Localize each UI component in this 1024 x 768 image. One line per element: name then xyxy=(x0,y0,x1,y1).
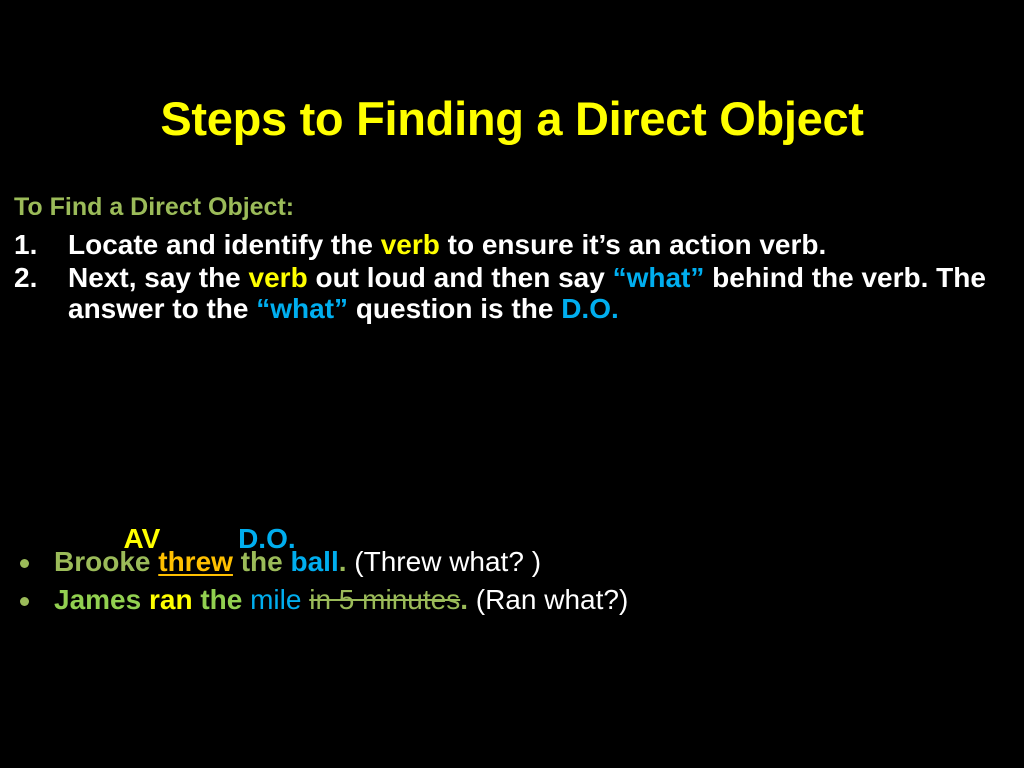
text-segment: the xyxy=(233,546,291,577)
step-number: 1. xyxy=(14,229,54,260)
text-segment: “what” xyxy=(256,293,348,324)
text-segment: . xyxy=(339,546,347,577)
example-item: Brooke threw the ball. (Threw what? ) xyxy=(14,546,1014,578)
text-segment: James xyxy=(54,584,149,615)
examples-list: Brooke threw the ball. (Threw what? )Jam… xyxy=(14,546,1014,621)
text-segment: (Threw what? ) xyxy=(347,546,542,577)
text-segment: ball xyxy=(291,546,339,577)
steps-list: 1.Locate and identify the verb to ensure… xyxy=(14,229,1010,325)
step-text: Next, say the verb out loud and then say… xyxy=(68,262,1010,325)
bullet-dot-icon xyxy=(20,597,29,606)
text-segment: Locate and identify the xyxy=(68,229,381,260)
text-segment: Next, say the xyxy=(68,262,249,293)
slide-canvas: Steps to Finding a Direct Object To Find… xyxy=(0,0,1024,768)
slide-body: To Find a Direct Object: 1.Locate and id… xyxy=(14,192,1010,327)
text-segment: ran xyxy=(149,584,193,615)
text-segment: mile xyxy=(250,584,301,615)
text-segment: D.O. xyxy=(561,293,619,324)
step-item: 2.Next, say the verb out loud and then s… xyxy=(14,262,1010,325)
text-segment: threw xyxy=(158,546,233,577)
step-number: 2. xyxy=(14,262,54,293)
text-segment: question is the xyxy=(348,293,561,324)
page-title: Steps to Finding a Direct Object xyxy=(0,93,1024,145)
example-text: James ran the mile in 5 minutes. (Ran wh… xyxy=(54,584,628,615)
example-item: James ran the mile in 5 minutes. (Ran wh… xyxy=(14,584,1014,616)
text-segment: out loud and then say xyxy=(308,262,613,293)
text-segment: (Ran what?) xyxy=(468,584,628,615)
text-segment: to ensure it’s an action verb. xyxy=(440,229,826,260)
text-segment: in 5 minutes xyxy=(309,584,460,615)
text-segment: Brooke xyxy=(54,546,158,577)
text-segment: . xyxy=(460,584,468,615)
text-segment: the xyxy=(193,584,251,615)
step-text: Locate and identify the verb to ensure i… xyxy=(68,229,1010,260)
bullet-dot-icon xyxy=(20,559,29,568)
text-segment: “what” xyxy=(613,262,705,293)
step-item: 1.Locate and identify the verb to ensure… xyxy=(14,229,1010,260)
text-segment: verb xyxy=(381,229,440,260)
text-segment: verb xyxy=(249,262,308,293)
example-text: Brooke threw the ball. (Threw what? ) xyxy=(54,546,541,577)
subhead-to-find-a-direct-object: To Find a Direct Object: xyxy=(14,192,1010,223)
